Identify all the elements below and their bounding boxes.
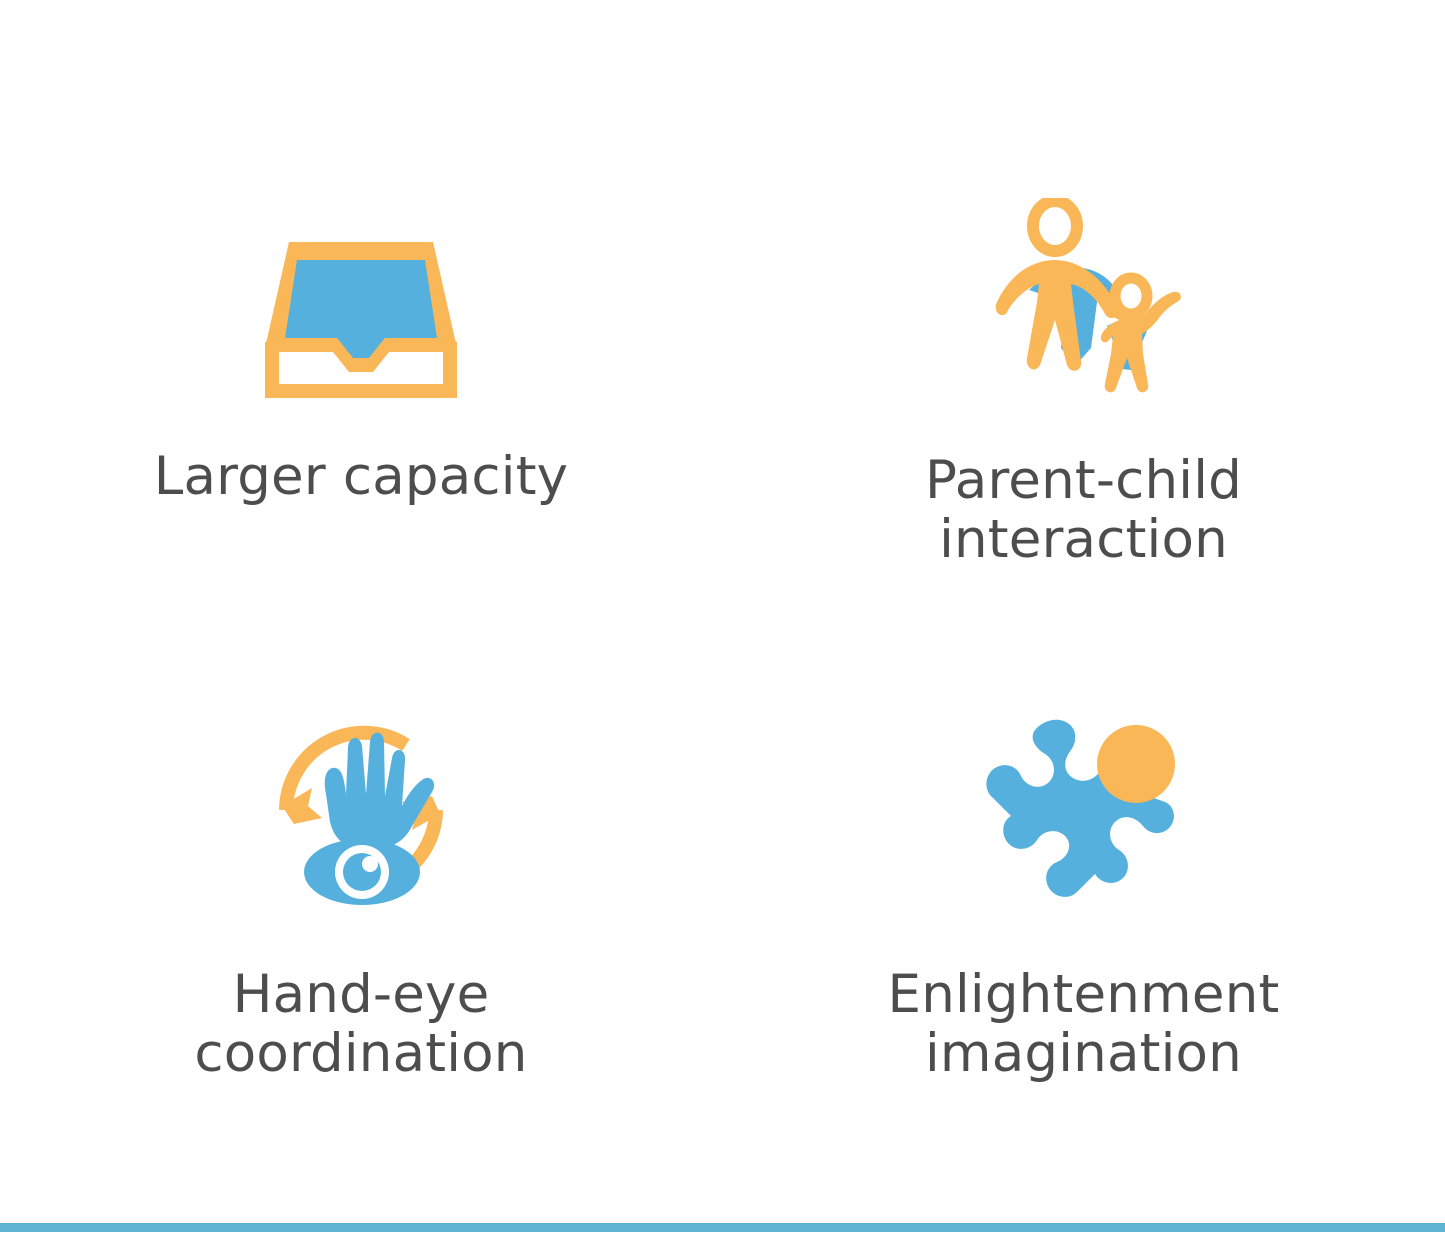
feature-item-hand-eye: Hand-eye coordination <box>0 610 722 1180</box>
puzzle-piece-icon <box>979 702 1189 917</box>
hand-eye-icon <box>256 702 466 917</box>
feature-label-enlightenment: Enlightenment imagination <box>888 965 1280 1084</box>
feature-item-larger-capacity: Larger capacity <box>0 0 722 610</box>
feature-highlight-page: Larger capacity <box>0 0 1445 1236</box>
feature-item-enlightenment: Enlightenment imagination <box>722 610 1445 1180</box>
feature-grid: Larger capacity <box>0 0 1445 1180</box>
bottom-divider-rule <box>0 1223 1445 1232</box>
feature-label-parent-child: Parent-child interaction <box>925 451 1242 570</box>
feature-label-hand-eye: Hand-eye coordination <box>194 965 527 1084</box>
tray-icon <box>261 238 461 403</box>
parent-child-icon <box>979 198 1189 403</box>
feature-item-parent-child: Parent-child interaction <box>722 0 1445 610</box>
feature-label-larger-capacity: Larger capacity <box>154 447 569 506</box>
